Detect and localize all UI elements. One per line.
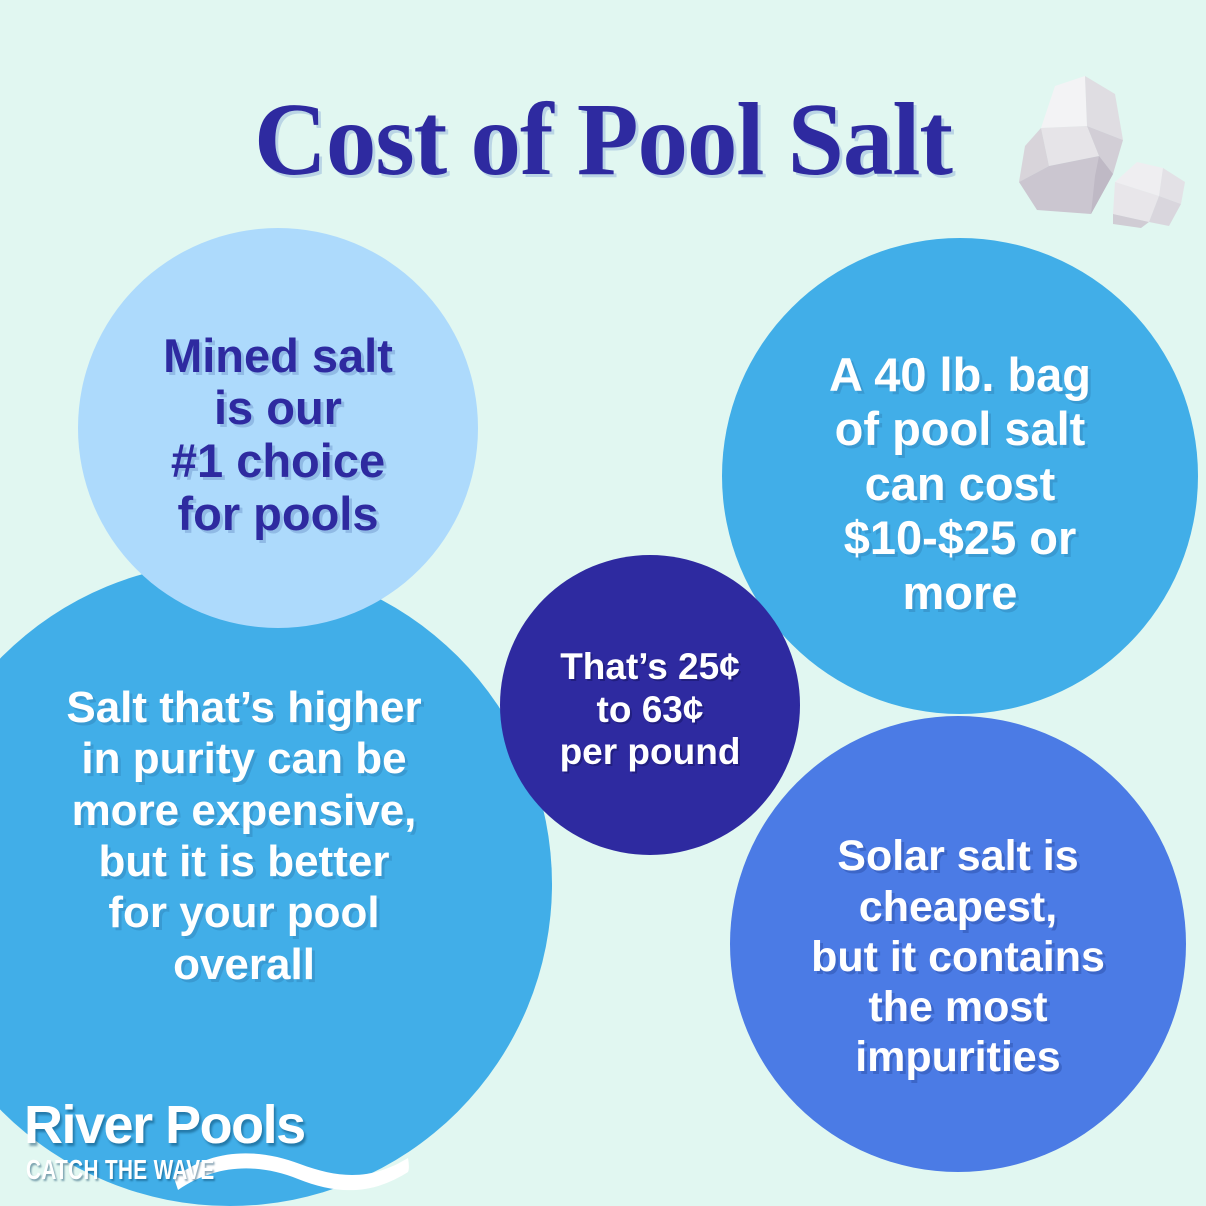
per-pound-bubble-text: That’s 25¢ to 63¢ per pound [560, 636, 741, 775]
logo-wordmark: River Pools [24, 1094, 305, 1156]
purity-bubble-text: Salt that’s higher in purity can be more… [66, 682, 421, 991]
logo-tagline: CATCH THE WAVE [26, 1154, 215, 1186]
solar-salt-bubble-text: Solar salt is cheapest, but it contains … [811, 805, 1105, 1082]
bag-cost-bubble: A 40 lb. bag of pool salt can cost $10-$… [722, 238, 1198, 714]
solar-salt-bubble: Solar salt is cheapest, but it contains … [730, 716, 1186, 1172]
per-pound-bubble: That’s 25¢ to 63¢ per pound [500, 555, 800, 855]
mined-salt-bubble: Mined salt is our #1 choice for pools [78, 228, 478, 628]
river-pools-logo: River Pools CATCH THE WAVE [22, 1098, 412, 1198]
infographic-poster: Cost of Pool Salt Salt that’s higher in … [0, 0, 1206, 1206]
bag-cost-bubble-text: A 40 lb. bag of pool salt can cost $10-$… [829, 332, 1091, 621]
mined-salt-bubble-text: Mined salt is our #1 choice for pools [163, 316, 393, 541]
salt-crystal-icon [963, 70, 1195, 230]
